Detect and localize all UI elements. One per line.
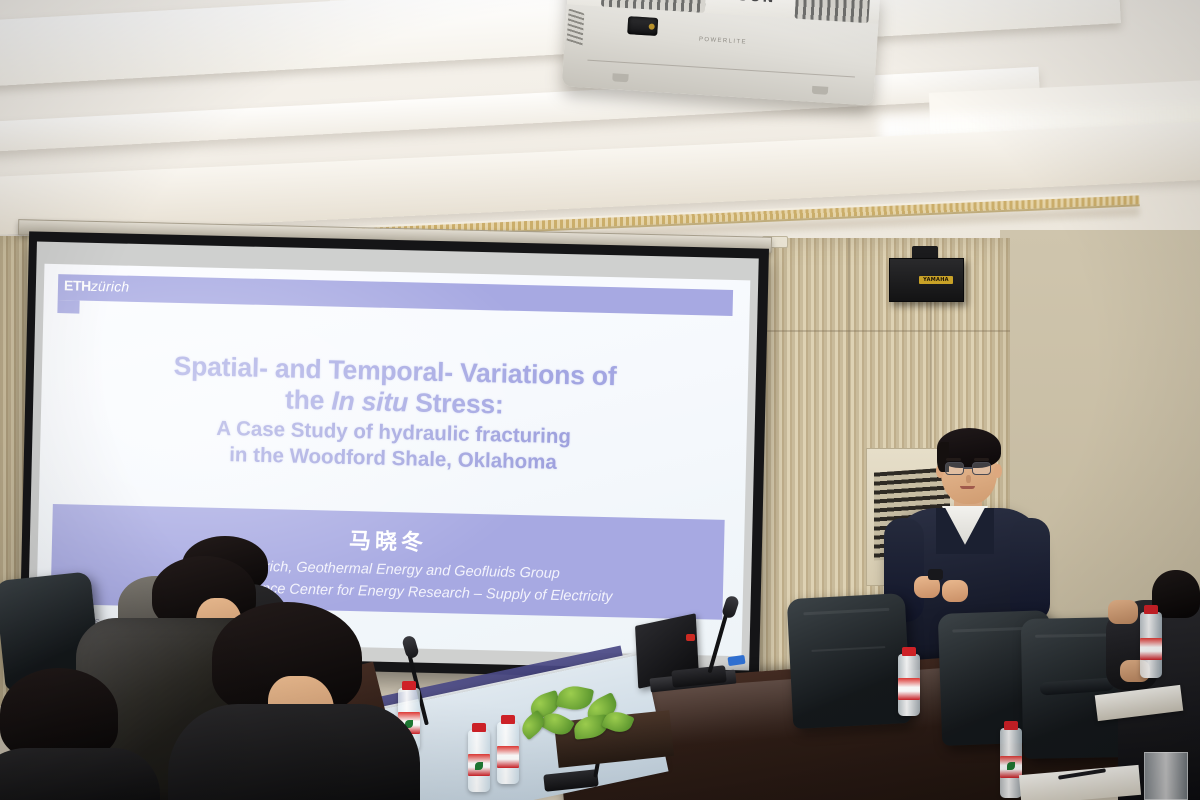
slide-title-line2-post: Stress: xyxy=(408,387,504,419)
bottle-cap xyxy=(402,681,416,690)
yamaha-logo: YAMAHA xyxy=(919,276,953,284)
presenter-nose xyxy=(966,475,971,483)
attendee-hand xyxy=(1108,600,1138,624)
drinking-glass xyxy=(1144,752,1188,800)
bottle-cap xyxy=(472,723,486,732)
bottle-leaf-icon xyxy=(475,762,483,770)
presenter-mouth xyxy=(960,486,975,489)
eth-zurich-logo: ETHzürich xyxy=(64,277,130,295)
bottle-label xyxy=(497,746,519,768)
microphone-led xyxy=(686,634,695,641)
projector-foot xyxy=(612,73,628,82)
attendee-head xyxy=(1152,570,1200,618)
wall-seam xyxy=(760,330,1010,332)
bottle-cap xyxy=(501,715,515,724)
projector-side-vent xyxy=(567,8,585,47)
glasses-bridge xyxy=(964,467,972,469)
slide-title-line2-pre: the xyxy=(285,384,332,415)
presenter-arm-right xyxy=(1010,518,1050,622)
potted-plant xyxy=(520,686,640,756)
projector-foot xyxy=(812,86,828,95)
eth-logo-light: zürich xyxy=(91,278,130,295)
eth-header-notch xyxy=(57,300,79,314)
bottle-leaf-icon xyxy=(1007,762,1015,770)
glasses-icon xyxy=(972,462,991,475)
glasses-icon xyxy=(945,462,964,475)
presenter-hand-right xyxy=(942,580,968,602)
bottle-cap xyxy=(902,647,916,656)
slide-title-italic: In situ xyxy=(331,386,408,418)
presentation-clicker[interactable] xyxy=(928,569,943,580)
slide-title-line1: Spatial- and Temporal- Variations of xyxy=(173,351,616,391)
presenter-eyebrow xyxy=(946,458,961,461)
bottle-label xyxy=(1140,638,1162,660)
eth-logo-bold: ETH xyxy=(64,277,91,294)
conference-room-photo: YAMAHA EPSON POWERLITE ETHzürich Spatial… xyxy=(0,0,1200,800)
bottle-cap xyxy=(1144,605,1158,614)
presenter-eyebrow xyxy=(974,458,989,461)
presenter-ear xyxy=(994,464,1002,478)
eth-header-bar xyxy=(58,274,733,316)
bottle-cap xyxy=(1004,721,1018,730)
slide-subtitle-line2: in the Woodford Shale, Oklahoma xyxy=(229,443,557,474)
office-chair[interactable] xyxy=(787,593,912,729)
bottle-label xyxy=(898,678,920,700)
